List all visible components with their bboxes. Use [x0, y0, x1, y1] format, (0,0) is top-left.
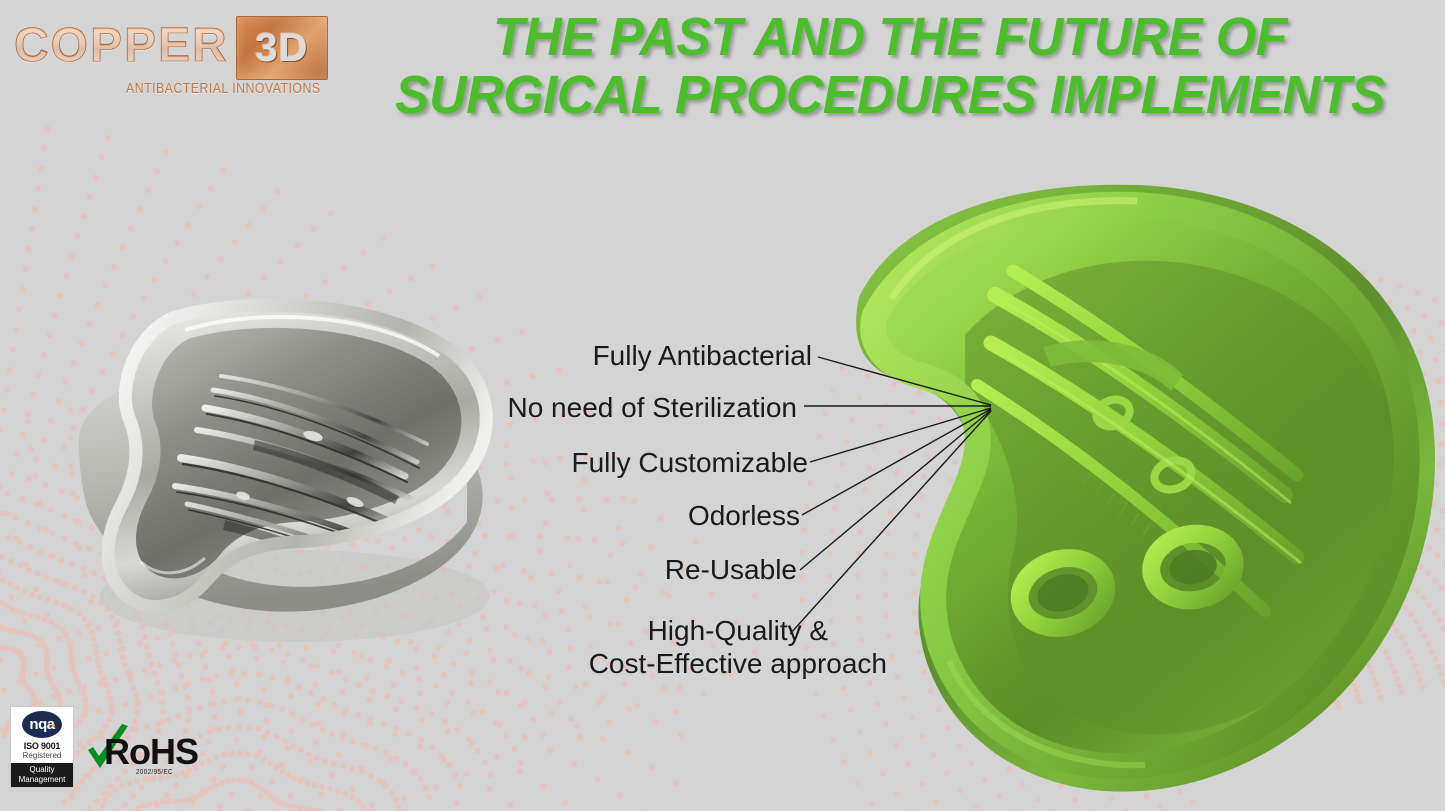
- callout-high-quality-line-2: Cost-Effective approach: [589, 647, 887, 680]
- rohs-word-label: RoHS: [104, 734, 198, 770]
- callout-re-usable[interactable]: Re-Usable: [665, 554, 797, 585]
- nqa-accent-dot-icon: [52, 724, 55, 727]
- nqa-standard-label: ISO 9001: [24, 741, 60, 751]
- callout-fully-customizable[interactable]: Fully Customizable: [571, 447, 808, 478]
- rohs-directive-label: 2002/95/EC: [136, 769, 173, 776]
- brand-name: COPPER: [14, 18, 229, 73]
- green-3d-printed-tray-photo: [845, 175, 1445, 795]
- nqa-registered-label: Registered: [23, 751, 62, 760]
- callout-fully-antibacterial[interactable]: Fully Antibacterial: [593, 340, 812, 371]
- nqa-scope-line-2: Management: [19, 775, 66, 785]
- nqa-scope-band: Quality Management: [11, 763, 73, 787]
- nqa-logo-icon: nqa: [22, 711, 62, 738]
- brand-3d-label: 3D: [255, 26, 308, 71]
- brand-tagline: ANTIBACTERIAL INNOVATIONS: [126, 80, 290, 97]
- brand-logo: COPPER 3D ANTIBACTERIAL INNOVATIONS: [14, 12, 326, 94]
- page-title-line-2: SURGICAL PROCEDURES IMPLEMENTS: [362, 66, 1418, 124]
- nqa-scope-line-1: Quality: [30, 765, 55, 775]
- rohs-badge: RoHS 2002/95/EC: [84, 726, 194, 778]
- page-title: THE PAST AND THE FUTURE OF SURGICAL PROC…: [362, 8, 1418, 125]
- callout-high-quality-line-1: High-Quality &: [589, 614, 887, 647]
- nqa-iso9001-badge: nqa ISO 9001 Registered Quality Manageme…: [10, 706, 74, 788]
- slide-root: COPPER 3D ANTIBACTERIAL INNOVATIONS THE …: [0, 0, 1445, 811]
- stainless-steel-kidney-tray-photo: [55, 290, 505, 650]
- callout-no-need-of-sterilization[interactable]: No need of Sterilization: [507, 392, 797, 423]
- nqa-mark-label: nqa: [29, 717, 54, 732]
- page-title-line-1: THE PAST AND THE FUTURE OF: [362, 8, 1418, 66]
- callout-high-quality-cost-effective[interactable]: High-Quality & Cost-Effective approach: [589, 614, 887, 680]
- callout-odorless[interactable]: Odorless: [688, 500, 800, 531]
- brand-3d-badge: 3D: [236, 16, 328, 80]
